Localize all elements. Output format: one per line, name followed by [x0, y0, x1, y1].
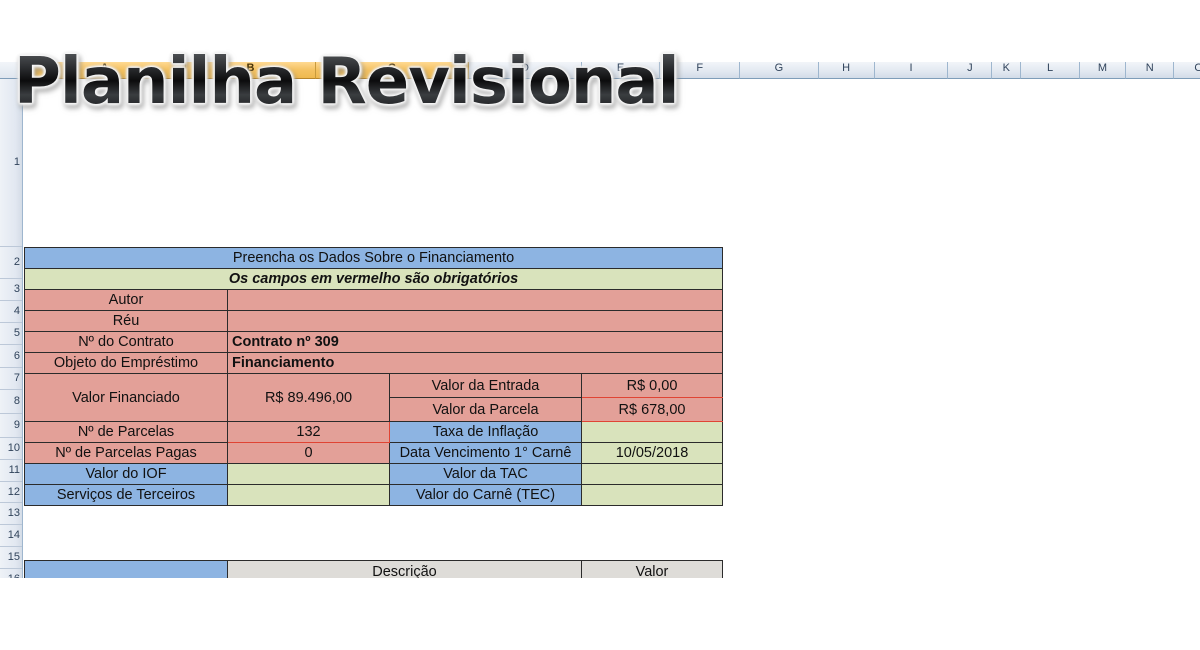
- label-valor-iof: Valor do IOF: [25, 464, 228, 485]
- spreadsheet-canvas: ABCDEFGHIJKLMNO 12345678910111213141516 …: [0, 0, 1200, 650]
- financing-form-table: Preencha os Dados Sobre o Financiamento …: [24, 247, 723, 506]
- input-valor-entrada[interactable]: R$ 0,00: [582, 374, 723, 398]
- input-parcelas-pagas[interactable]: 0: [228, 443, 390, 464]
- column-header-g[interactable]: G: [740, 62, 818, 79]
- column-header-l[interactable]: L: [1021, 62, 1079, 79]
- table-row-note: Os campos em vermelho são obrigatórios: [25, 269, 723, 290]
- column-header-h[interactable]: H: [819, 62, 875, 79]
- column-header-k[interactable]: K: [992, 62, 1021, 79]
- table-row: Serviços de Terceiros Valor do Carnê (TE…: [25, 485, 723, 506]
- label-valor-tac: Valor da TAC: [390, 464, 582, 485]
- table-row: Objeto do Empréstimo Financiamento: [25, 353, 723, 374]
- table-row: Valor Financiado R$ 89.496,00 Valor da E…: [25, 374, 723, 398]
- input-data-vencimento[interactable]: 10/05/2018: [582, 443, 723, 464]
- column-header-m[interactable]: M: [1080, 62, 1126, 79]
- input-objeto-emprestimo[interactable]: Financiamento: [228, 353, 723, 374]
- table-row: Nº do Contrato Contrato nº 309: [25, 332, 723, 353]
- label-numero-contrato: Nº do Contrato: [25, 332, 228, 353]
- column-header-n[interactable]: N: [1126, 62, 1174, 79]
- label-valor-entrada: Valor da Entrada: [390, 374, 582, 398]
- input-valor-iof[interactable]: [228, 464, 390, 485]
- input-numero-contrato[interactable]: Contrato nº 309: [228, 332, 723, 353]
- cell-grid: Preencha os Dados Sobre o Financiamento …: [24, 79, 1200, 650]
- label-taxa-inflacao: Taxa de Inflação: [390, 422, 582, 443]
- row-header-9[interactable]: 9: [0, 414, 22, 438]
- row-header-6[interactable]: 6: [0, 345, 22, 368]
- row-header-12[interactable]: 12: [0, 482, 22, 503]
- table-row: Valor do IOF Valor da TAC: [25, 464, 723, 485]
- input-valor-parcela[interactable]: R$ 678,00: [582, 398, 723, 422]
- row-header-5[interactable]: 5: [0, 323, 22, 345]
- input-taxa-inflacao[interactable]: [582, 422, 723, 443]
- label-servicos-terceiros: Serviços de Terceiros: [25, 485, 228, 506]
- row-header-13[interactable]: 13: [0, 503, 22, 525]
- column-header-j[interactable]: J: [948, 62, 992, 79]
- row-header-10[interactable]: 10: [0, 438, 22, 460]
- table-row-header: Preencha os Dados Sobre o Financiamento: [25, 248, 723, 269]
- label-parcelas-pagas: Nº de Parcelas Pagas: [25, 443, 228, 464]
- viewport-right-clip: [1164, 79, 1200, 650]
- label-valor-parcela: Valor da Parcela: [390, 398, 582, 422]
- row-header-4[interactable]: 4: [0, 301, 22, 323]
- required-fields-note: Os campos em vermelho são obrigatórios: [25, 269, 723, 290]
- row-header-2[interactable]: 2: [0, 247, 22, 279]
- label-valor-carne-tec: Valor do Carnê (TEC): [390, 485, 582, 506]
- input-valor-carne-tec[interactable]: [582, 485, 723, 506]
- row-header-gutter: 12345678910111213141516: [0, 79, 23, 650]
- table-row: Nº de Parcelas Pagas 0 Data Vencimento 1…: [25, 443, 723, 464]
- row-header-11[interactable]: 11: [0, 460, 22, 482]
- column-header-i[interactable]: I: [875, 62, 949, 79]
- input-numero-parcelas[interactable]: 132: [228, 422, 390, 443]
- viewport-bottom-clip: [0, 578, 1200, 650]
- input-valor-tac[interactable]: [582, 464, 723, 485]
- label-autor: Autor: [25, 290, 228, 311]
- row-header-14[interactable]: 14: [0, 525, 22, 547]
- input-reu[interactable]: [228, 311, 723, 332]
- input-valor-financiado[interactable]: R$ 89.496,00: [228, 374, 390, 422]
- row-header-3[interactable]: 3: [0, 279, 22, 301]
- label-data-vencimento: Data Vencimento 1° Carnê: [390, 443, 582, 464]
- label-valor-financiado: Valor Financiado: [25, 374, 228, 422]
- input-servicos-terceiros[interactable]: [228, 485, 390, 506]
- row-header-8[interactable]: 8: [0, 390, 22, 414]
- table-row: Réu: [25, 311, 723, 332]
- table-row: Nº de Parcelas 132 Taxa de Inflação: [25, 422, 723, 443]
- row-header-15[interactable]: 15: [0, 547, 22, 569]
- table-row: Autor: [25, 290, 723, 311]
- label-reu: Réu: [25, 311, 228, 332]
- label-numero-parcelas: Nº de Parcelas: [25, 422, 228, 443]
- input-autor[interactable]: [228, 290, 723, 311]
- column-header-o[interactable]: O: [1174, 62, 1200, 79]
- row-header-7[interactable]: 7: [0, 368, 22, 390]
- form-header-title: Preencha os Dados Sobre o Financiamento: [25, 248, 723, 269]
- label-objeto-emprestimo: Objeto do Empréstimo: [25, 353, 228, 374]
- wordart-title: Planilha Revisional: [14, 50, 679, 114]
